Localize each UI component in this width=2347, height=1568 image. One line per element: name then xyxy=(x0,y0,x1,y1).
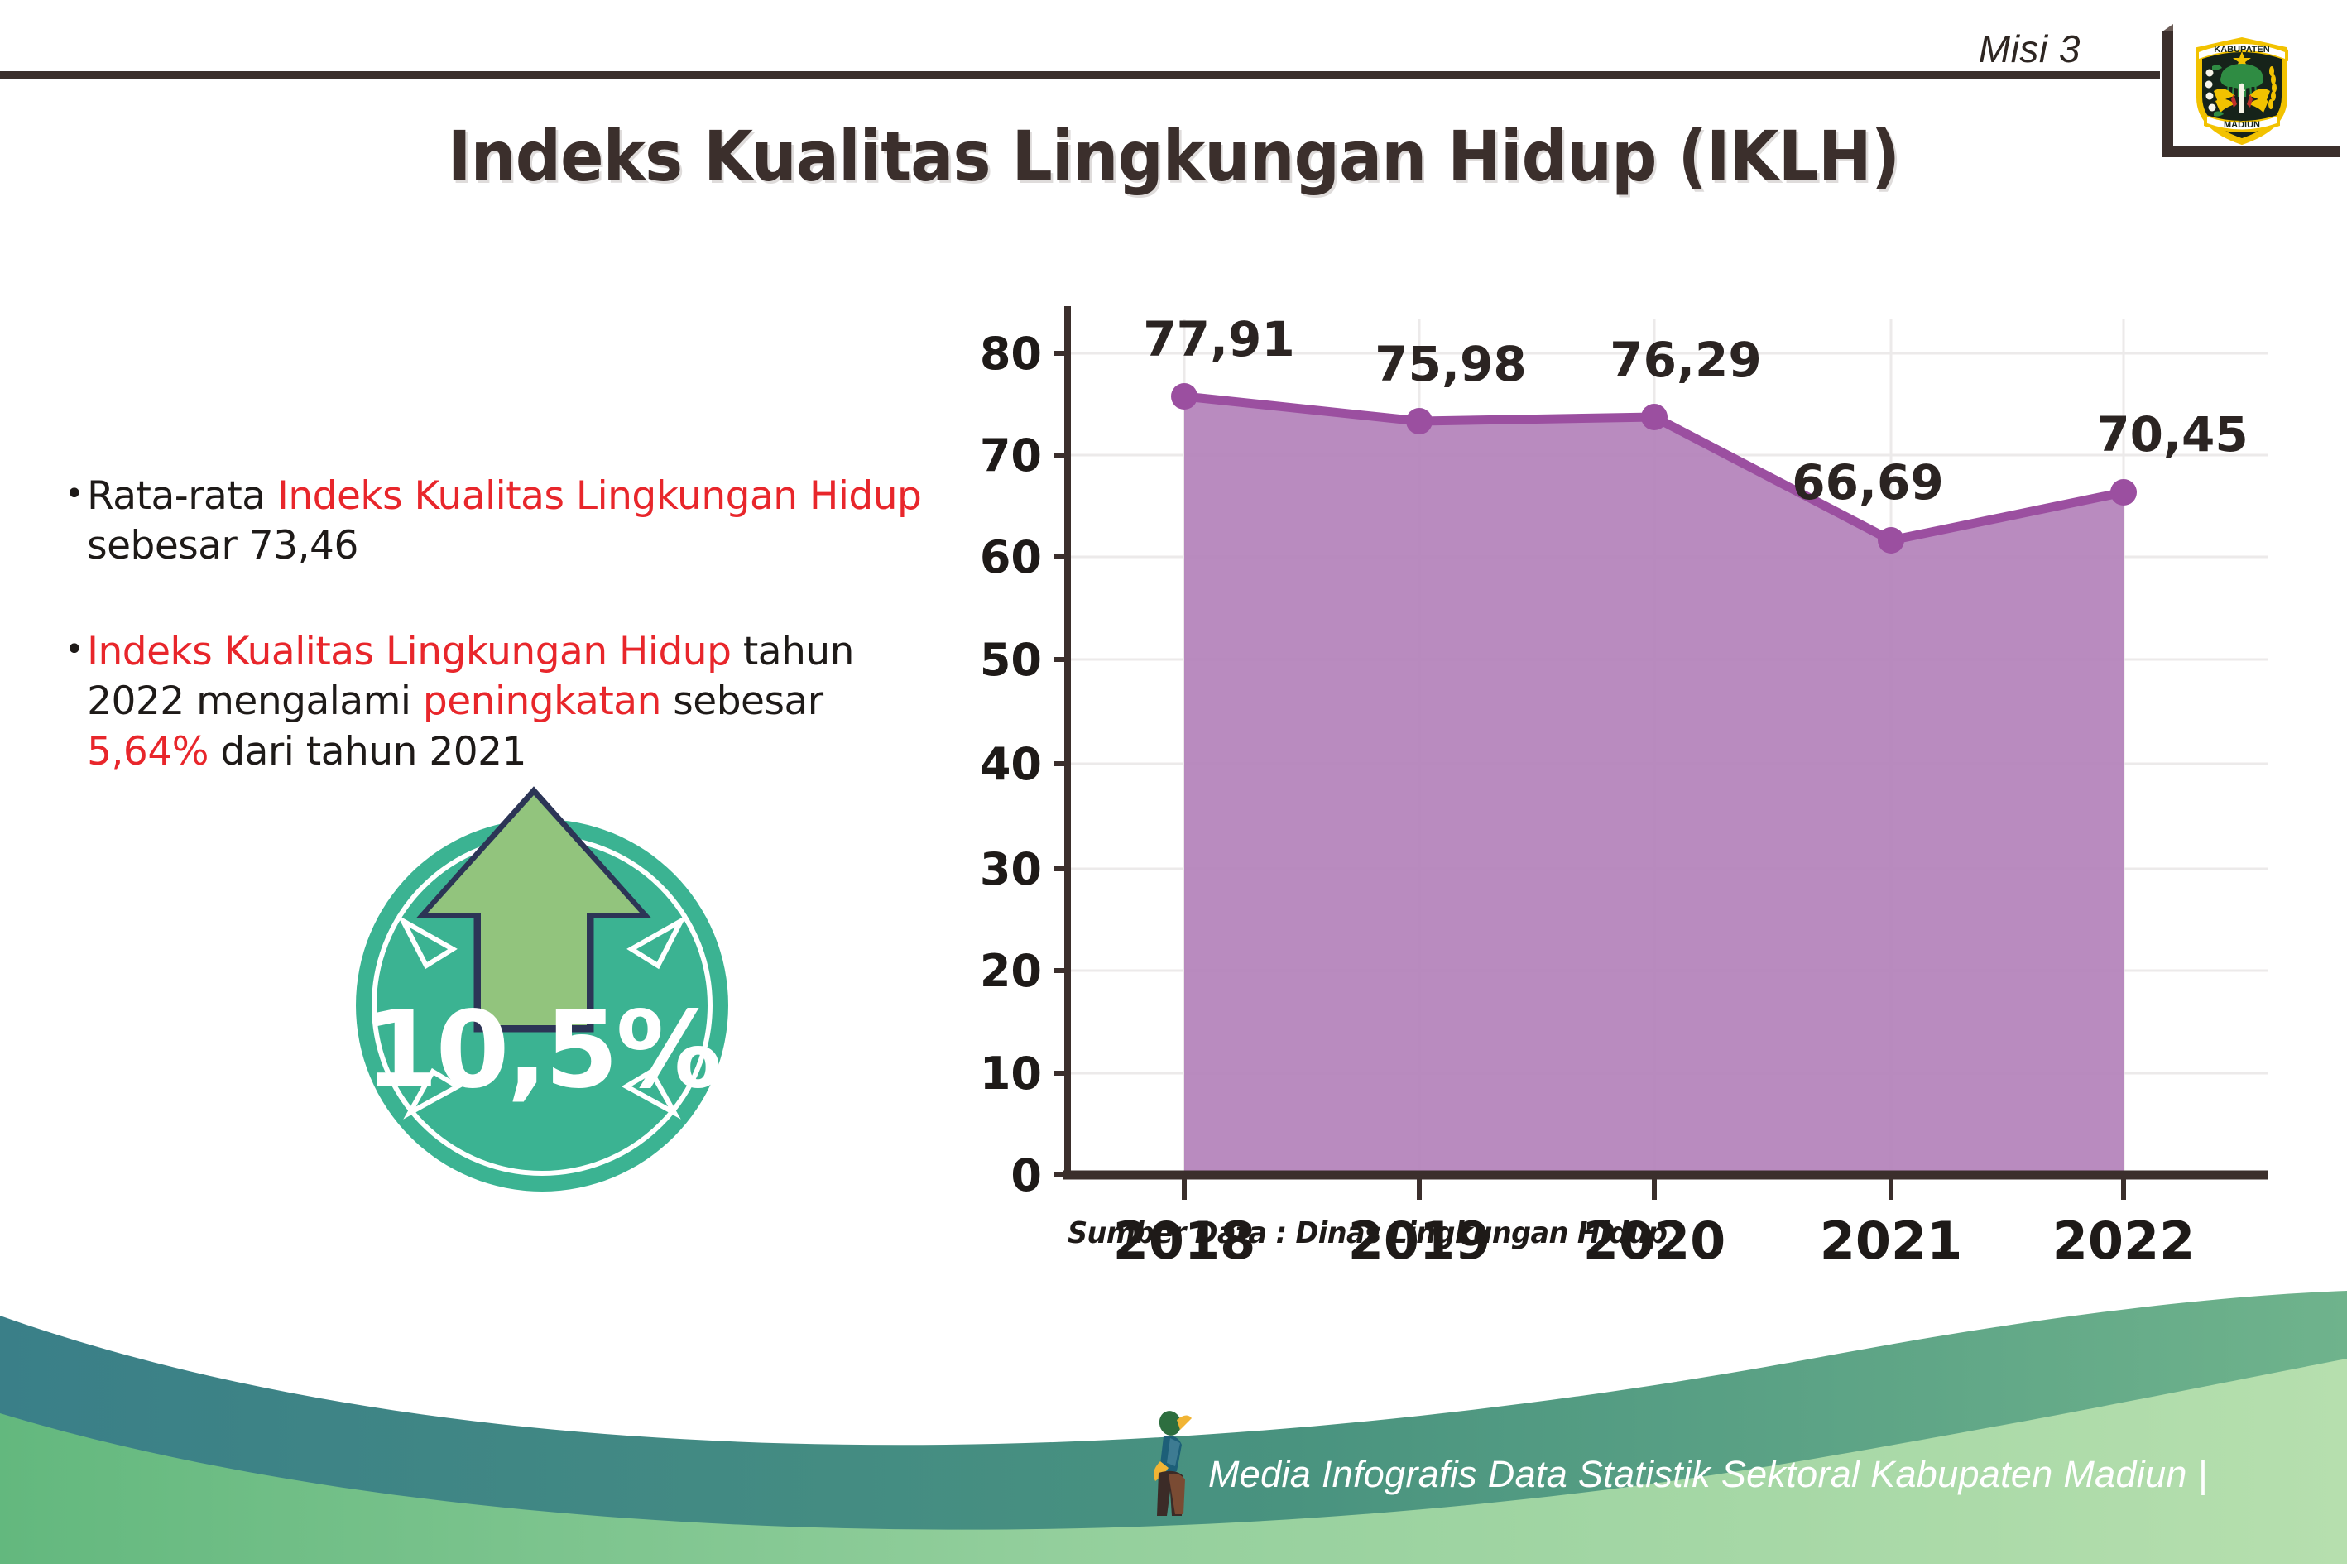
data-label-2020: 76,29 xyxy=(1610,332,1761,388)
y-tick-label-30: 30 xyxy=(981,843,1042,895)
y-tick-label-70: 70 xyxy=(981,429,1042,482)
bullet-dot-icon: • xyxy=(65,627,84,672)
increase-badge: 10,5% xyxy=(327,741,757,1204)
y-tick-label-80: 80 xyxy=(981,328,1042,380)
bullet-1-seg-4: 5,64% xyxy=(87,729,209,774)
statistics-mascot-icon xyxy=(1140,1405,1212,1521)
bullet-item-average: • Rata-rata Indeks Kualitas Lingkungan H… xyxy=(65,472,950,571)
bullet-1-seg-3: sebesar xyxy=(661,679,823,724)
bullet-0-seg-2: sebesar 73,46 xyxy=(87,523,358,568)
bullet-dot-icon: • xyxy=(65,472,84,516)
misi-label: Misi 3 xyxy=(1979,26,2081,71)
y-tick-label-20: 20 xyxy=(981,945,1042,997)
y-tick-label-0: 0 xyxy=(1010,1149,1042,1201)
x-tick-label-2021: 2021 xyxy=(1820,1211,1963,1262)
y-tick-label-40: 40 xyxy=(981,738,1042,790)
data-label-2018: 77,91 xyxy=(1143,311,1294,367)
bullet-1-seg-2: peningkatan xyxy=(423,679,661,724)
data-label-2021: 66,69 xyxy=(1792,454,1943,511)
chart-y-tick-labels: 80 70 60 50 40 30 20 10 0 xyxy=(981,328,1042,1201)
y-tick-label-10: 10 xyxy=(981,1048,1042,1100)
y-tick-label-60: 60 xyxy=(981,531,1042,583)
footer-banner: Media Infografis Data Statistik Sektoral… xyxy=(0,1291,2347,1564)
data-label-2022: 70,45 xyxy=(2096,406,2248,463)
badge-percentage-value: 10,5% xyxy=(327,989,757,1112)
footer-caption: Media Infografis Data Statistik Sektoral… xyxy=(1208,1453,2208,1496)
chart-source-note: Sumber Data : Dinas Lingkungan Hidup xyxy=(1068,1216,1667,1250)
bullet-0-seg-1: Indeks Kualitas Lingkungan Hidup xyxy=(277,473,921,519)
bullet-1-seg-0: Indeks Kualitas Lingkungan Hidup xyxy=(87,629,731,674)
bullet-average-text: Rata-rata Indeks Kualitas Lingkungan Hid… xyxy=(87,472,950,571)
bullet-0-seg-0: Rata-rata xyxy=(87,473,277,519)
x-tick-label-2022: 2022 xyxy=(2052,1211,2196,1262)
header-divider-rule xyxy=(0,71,2160,79)
data-label-2019: 75,98 xyxy=(1375,336,1526,392)
page-title: Indeks Kualitas Lingkungan Hidup (IKLH) xyxy=(94,116,2253,197)
iklh-area-chart: 80 70 60 50 40 30 20 10 0 2018 2019 2020… xyxy=(981,285,2288,1262)
logo-top-banner-text: KABUPATEN xyxy=(2214,45,2269,55)
y-tick-label-50: 50 xyxy=(981,634,1042,686)
